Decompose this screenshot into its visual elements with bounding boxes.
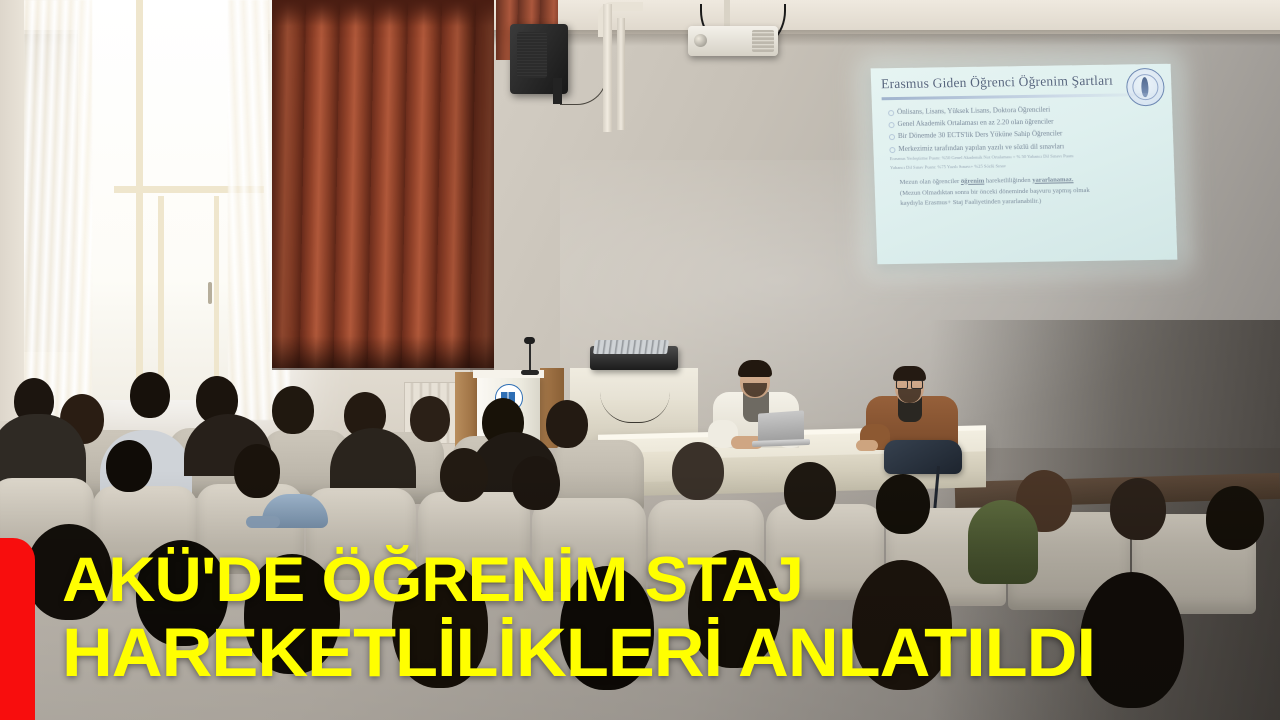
audience-head <box>546 400 588 448</box>
rust-curtain <box>272 0 494 368</box>
headline-line-1: AKÜ'DE ÖĞRENİM STAJ <box>62 549 1280 611</box>
presenter-left-hair <box>738 360 772 377</box>
curtain-top-shadow <box>272 0 494 26</box>
audience-head <box>130 372 170 418</box>
slide-divider <box>882 93 1162 100</box>
news-photo: Erasmus Giden Öğrenci Öğrenim Şartları Ö… <box>0 0 1280 720</box>
projector-lens <box>694 34 707 47</box>
slide-note-bold-1: öğrenim <box>961 177 985 184</box>
slide-note-mid: hareketliliğinden <box>986 177 1031 185</box>
slide-note-lead: Mezun olan öğrenciler <box>899 178 959 186</box>
presenter-right-glasses-icon <box>896 380 923 387</box>
window-mullion-vertical <box>136 0 143 400</box>
projector-vent <box>752 30 774 52</box>
microphone-stand <box>529 342 531 372</box>
window-sash-edge <box>214 196 219 396</box>
presenter-right-hand <box>856 440 878 451</box>
slide-title: Erasmus Giden Öğrenci Öğrenim Şartları <box>881 72 1162 92</box>
audience-head <box>272 386 314 434</box>
slide-note-bold-2: yararlanamaz. <box>1032 176 1073 184</box>
slide-bullet-list: Önlisans, Lisans, Yüksek Lisans, Doktora… <box>882 102 1164 155</box>
left-wall-edge <box>0 0 24 420</box>
presenter-right-hair <box>893 366 926 381</box>
slide-note: Mezun olan öğrenciler öğrenim hareketlil… <box>884 173 1165 210</box>
conduit-pipe-1 <box>603 4 612 132</box>
backpack-icon <box>884 440 962 474</box>
audio-mixer-faders <box>593 340 669 354</box>
window-mullion-lower <box>158 196 164 400</box>
headline-line-2: HAREKETLİLİKLERİ ANLATILDI <box>62 619 1280 687</box>
window-handle <box>208 282 212 304</box>
microphone-icon <box>524 337 535 344</box>
conduit-pipe-2 <box>617 18 625 130</box>
audience-head <box>410 396 450 442</box>
projection-screen: Erasmus Giden Öğrenci Öğrenim Şartları Ö… <box>871 64 1178 265</box>
red-accent-bar <box>0 538 35 720</box>
headline-block: AKÜ'DE ÖĞRENİM STAJ HAREKETLİLİKLERİ ANL… <box>62 549 1272 688</box>
microphone-base <box>521 370 539 375</box>
curtain-hem-shadow <box>272 336 494 370</box>
